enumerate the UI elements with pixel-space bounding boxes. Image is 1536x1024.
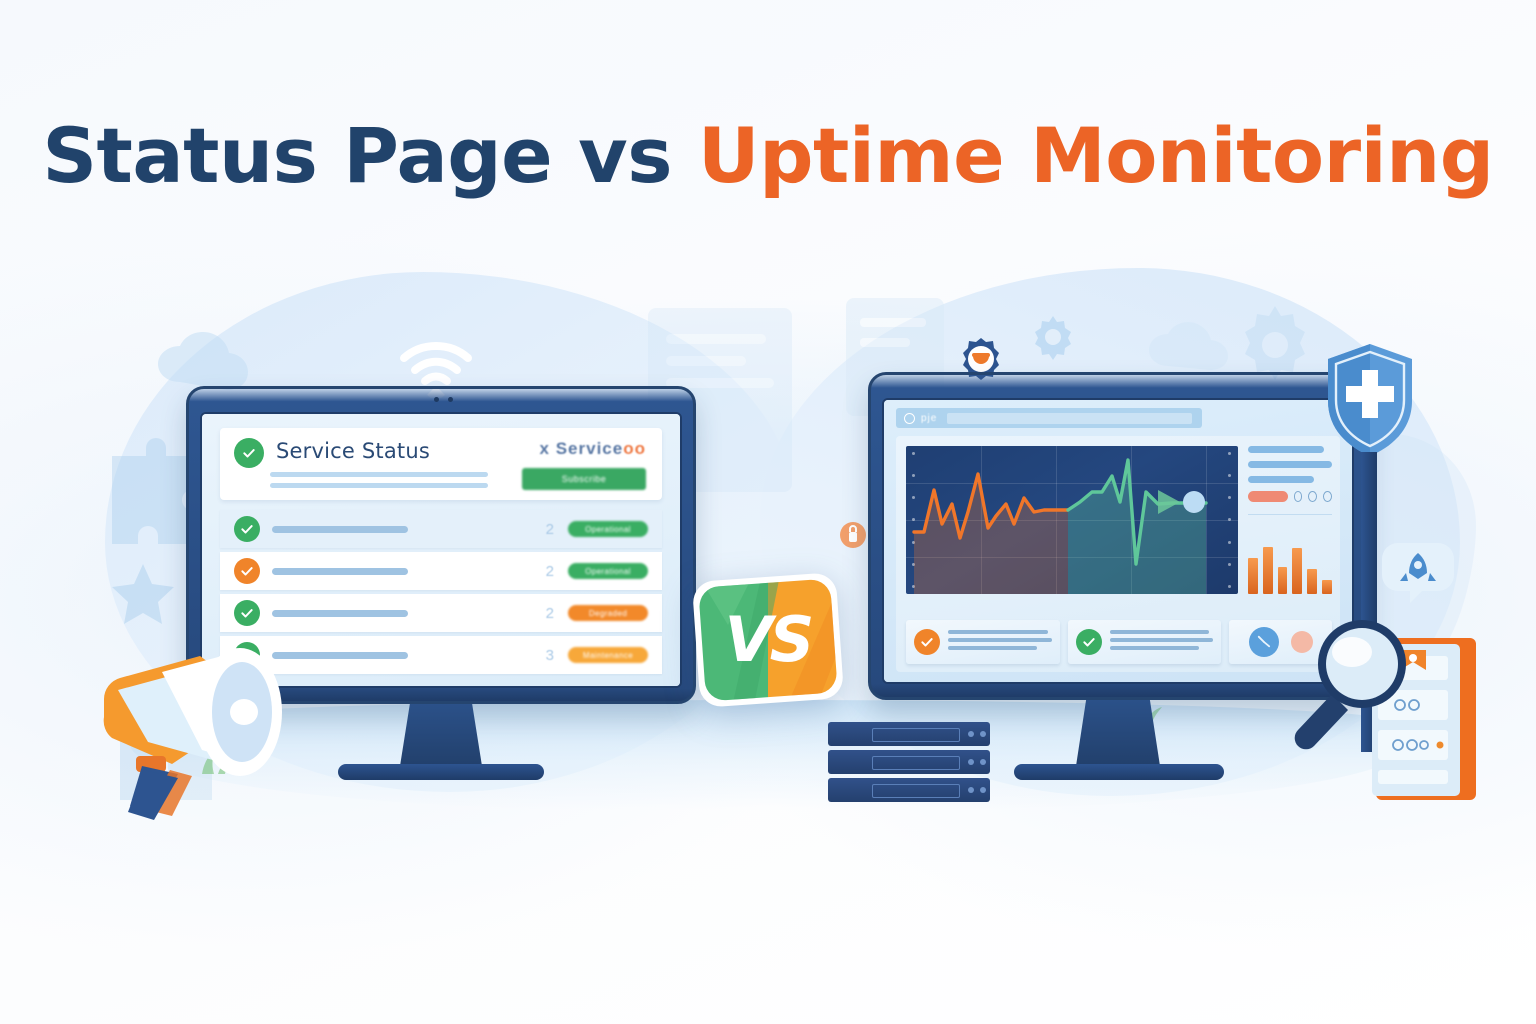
table-row[interactable]: 2 Operational [220, 510, 662, 548]
monitor-stand-neck [1076, 700, 1160, 766]
brand-prefix: x [540, 439, 550, 458]
check-circle-icon [914, 629, 940, 655]
title-part-orange: Uptime Monitoring [698, 111, 1494, 200]
row-number: 2 [546, 605, 554, 622]
cloud-decoration [1140, 318, 1260, 378]
status-badge: Operational [568, 563, 648, 579]
browser-url-bar[interactable]: pje [896, 408, 1202, 428]
mini-bar-chart [1248, 532, 1332, 594]
monitor-screen: pje [882, 398, 1354, 684]
magnifying-glass-icon [1288, 612, 1418, 752]
check-circle-icon [1076, 629, 1102, 655]
bar [1307, 569, 1317, 594]
gauge-icon [1249, 627, 1279, 657]
page-title: Status Page vs Uptime Monitoring [0, 118, 1536, 194]
bar [1248, 558, 1258, 594]
title-part-navy: Status Page vs [42, 111, 698, 200]
header-skeleton-lines [270, 472, 488, 494]
camera-dot [434, 397, 439, 402]
subscribe-button[interactable]: Subscribe [522, 468, 646, 490]
bar [1322, 580, 1332, 594]
card-skeleton-lines [948, 630, 1052, 654]
vs-label: VS [725, 603, 812, 676]
alert-bar [1248, 491, 1288, 502]
camera-dot [448, 397, 453, 402]
globe-icon [904, 413, 915, 424]
brand-logo: x Serviceoo [540, 439, 646, 459]
server-rack-icon [828, 722, 1008, 808]
megaphone-icon [58, 620, 328, 820]
shield-check-icon [1320, 340, 1420, 460]
table-row[interactable]: 2 Operational [220, 552, 662, 590]
vs-shield-badge: VS [688, 565, 848, 715]
chart-series [906, 446, 1238, 594]
gear-icon [1026, 310, 1080, 364]
monitor-stand-neck [400, 704, 482, 766]
lock-icon [838, 520, 868, 554]
status-dot [1323, 491, 1332, 502]
status-badge: Operational [568, 521, 648, 537]
card-skeleton-lines [1110, 630, 1214, 654]
brand-name: Service [556, 439, 624, 458]
rocket-icon [1378, 535, 1458, 605]
url-text: pje [921, 413, 937, 424]
dashboard-panel [896, 436, 1340, 672]
bar [1292, 548, 1302, 594]
status-card[interactable] [906, 620, 1060, 664]
status-dot [1308, 491, 1317, 502]
status-badge: Maintenance [568, 647, 648, 663]
monitor-stand-base [338, 764, 544, 780]
divider [1248, 514, 1332, 515]
check-circle-icon [234, 558, 260, 584]
uptime-dashboard-app: pje [884, 400, 1352, 682]
status-cards [906, 620, 1332, 664]
check-circle-icon [234, 438, 264, 468]
illustration-canvas: Service Status x Serviceoo Subscribe [0, 0, 1536, 1024]
monitor-stand-base [1014, 764, 1224, 780]
status-badge: Degraded [568, 605, 648, 621]
status-header-card: Service Status x Serviceoo Subscribe [220, 428, 662, 500]
bar [1263, 547, 1273, 594]
status-card[interactable] [1068, 620, 1222, 664]
check-circle-icon [234, 516, 260, 542]
page-title: Service Status [276, 439, 430, 463]
brand-dot: oo [623, 439, 646, 458]
alert-row [1248, 491, 1332, 502]
bar [1278, 567, 1288, 594]
url-placeholder [947, 413, 1192, 424]
row-number: 2 [546, 521, 554, 538]
response-time-chart [906, 446, 1238, 594]
row-number: 2 [546, 563, 554, 580]
status-dot [1294, 491, 1303, 502]
row-number: 3 [546, 647, 554, 664]
